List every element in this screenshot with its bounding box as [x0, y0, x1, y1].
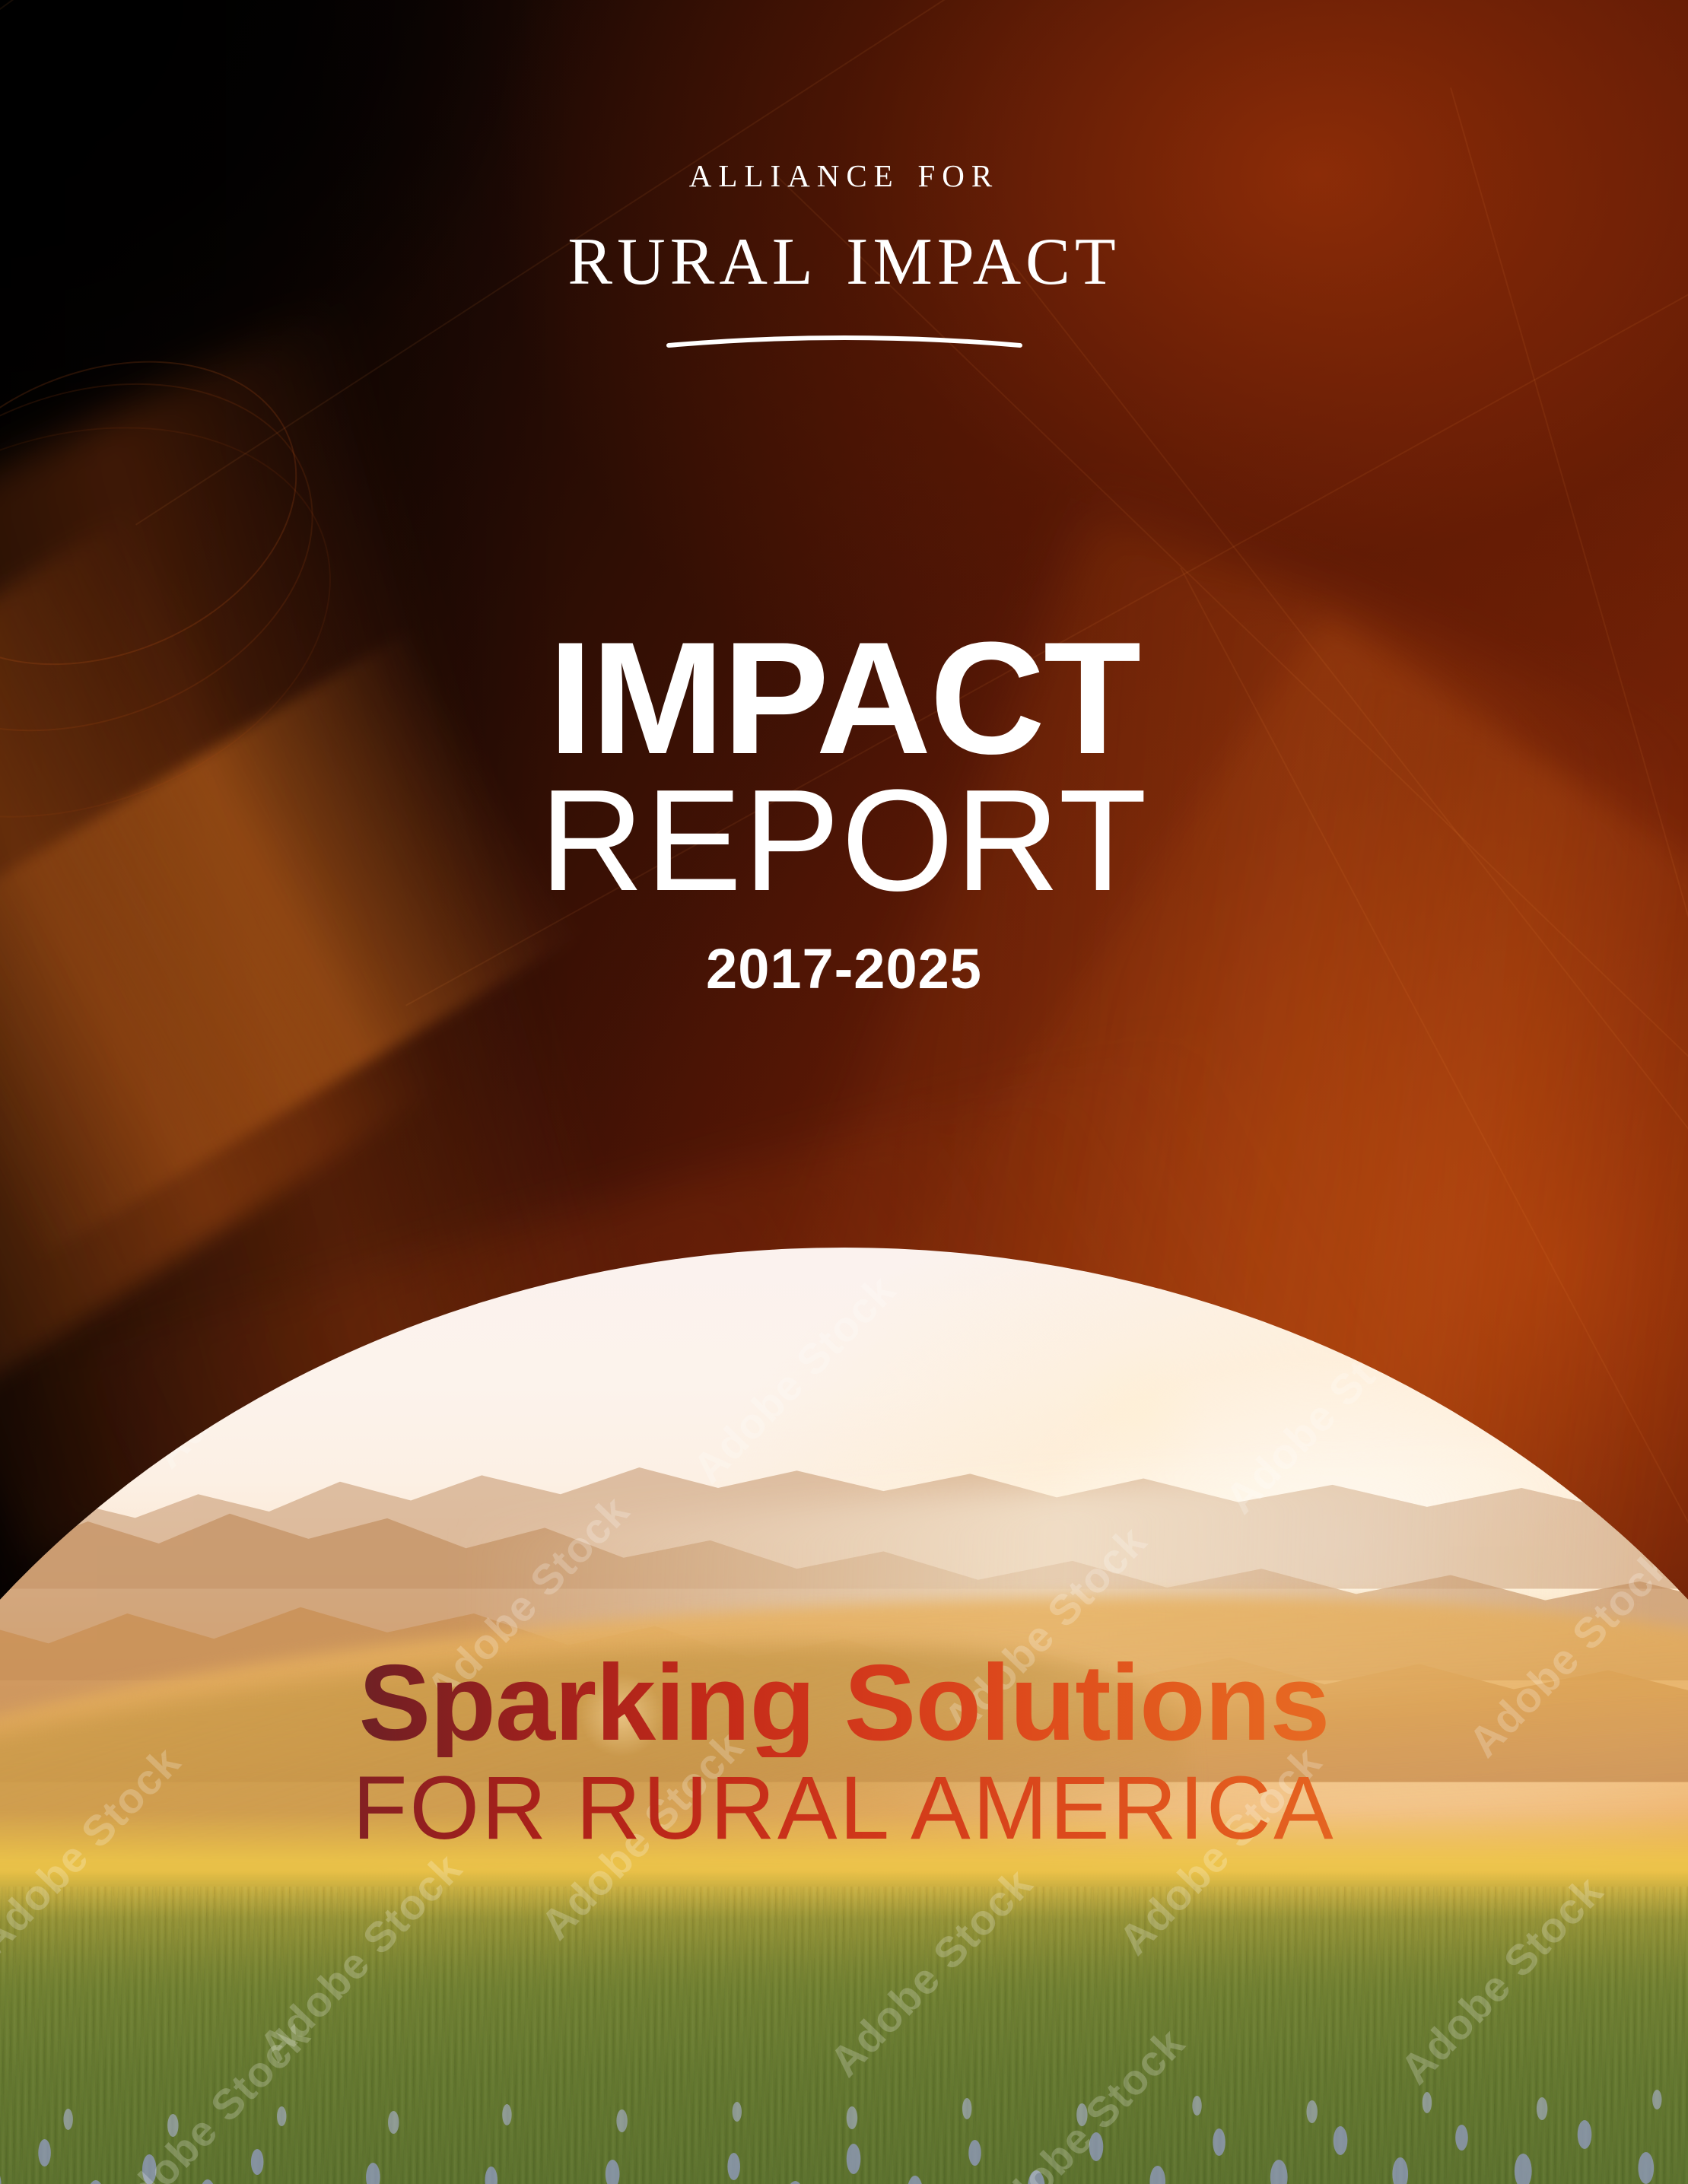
- logo-line-alliance-for: Alliance for: [0, 149, 1688, 194]
- page-title-report: REPORT: [0, 768, 1688, 915]
- logo-line-rural-impact: Rural Impact: [0, 199, 1688, 306]
- tagline-primary: Sparking Solutions: [0, 1649, 1688, 1757]
- wildflower-field: [0, 1970, 1688, 2184]
- page-title-impact: IMPACT: [0, 624, 1688, 772]
- logo-underline-rule: [666, 327, 1023, 350]
- cover-tagline: Sparking Solutions FOR RURAL AMERICA: [0, 1649, 1688, 1853]
- title-block: IMPACT REPORT 2017-2025: [0, 624, 1688, 1001]
- tagline-secondary: FOR RURAL AMERICA: [0, 1763, 1688, 1853]
- report-year-range: 2017-2025: [0, 936, 1688, 1001]
- organization-logo: Alliance for Rural Impact: [0, 149, 1688, 350]
- report-cover-page: Alliance for Rural Impact IMPACT REPORT …: [0, 0, 1688, 2184]
